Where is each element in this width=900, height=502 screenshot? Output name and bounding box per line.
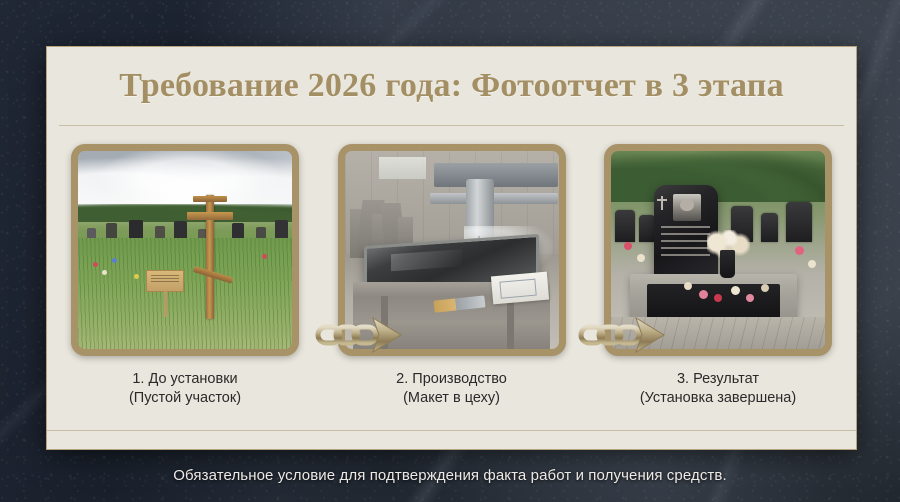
title-area: Требование 2026 года: Фотоотчет в 3 этап…: [47, 47, 856, 125]
workshop-window: [379, 157, 426, 179]
grass-foreground: [78, 238, 292, 349]
paved-walkway: [611, 317, 825, 349]
photo-frame-3[interactable]: [604, 144, 832, 356]
stage-3-caption: 3. Результат (Установка завершена): [640, 370, 796, 408]
cnc-rail: [430, 193, 558, 205]
stage-3[interactable]: 3. Результат (Установка завершена): [604, 144, 832, 408]
slide-card: Требование 2026 года: Фотоотчет в 3 этап…: [46, 46, 857, 450]
stage-3-caption-line2: (Установка завершена): [640, 389, 796, 408]
sky-clouds: [78, 151, 292, 212]
stage-1-caption-line1: 1. До установки: [129, 370, 241, 389]
stage-1-caption-line2: (Пустой участок): [129, 389, 241, 408]
footer-note: Обязательное условие для подтверждения ф…: [173, 467, 726, 484]
stage-2-caption-line2: (Макет в цеху): [396, 389, 507, 408]
stage-1[interactable]: 1. До установки (Пустой участок): [71, 144, 299, 408]
wooden-cross-icon: [206, 195, 214, 320]
photo-workshop: [345, 151, 559, 349]
photo-frame-2[interactable]: [338, 144, 566, 356]
stage-2-caption-line1: 2. Производство: [396, 370, 507, 389]
stages-row: 1. До установки (Пустой участок): [47, 126, 856, 408]
footer-bar: Обязательное условие для подтверждения ф…: [0, 448, 900, 502]
blueprint-paper: [491, 271, 549, 303]
engraved-inscription: [661, 226, 710, 260]
flower-vase: [720, 250, 735, 278]
stage-2-caption: 2. Производство (Макет в цеху): [396, 370, 507, 408]
photo-empty-plot: [78, 151, 292, 349]
page-title: Требование 2026 года: Фотоотчет в 3 этап…: [119, 67, 784, 105]
stage-1-caption: 1. До установки (Пустой участок): [129, 370, 241, 408]
card-bottom-divider: [47, 430, 856, 431]
photo-frame-1[interactable]: [71, 144, 299, 356]
cnc-gantry: [434, 163, 558, 187]
photo-installed-monument: [611, 151, 825, 349]
stage-3-caption-line1: 3. Результат: [640, 370, 796, 389]
stage-2[interactable]: 2. Производство (Макет в цеху): [338, 144, 566, 408]
engraved-cross-icon: [661, 196, 663, 211]
grave-sign: [146, 270, 184, 292]
portrait-engraving: [673, 194, 701, 222]
